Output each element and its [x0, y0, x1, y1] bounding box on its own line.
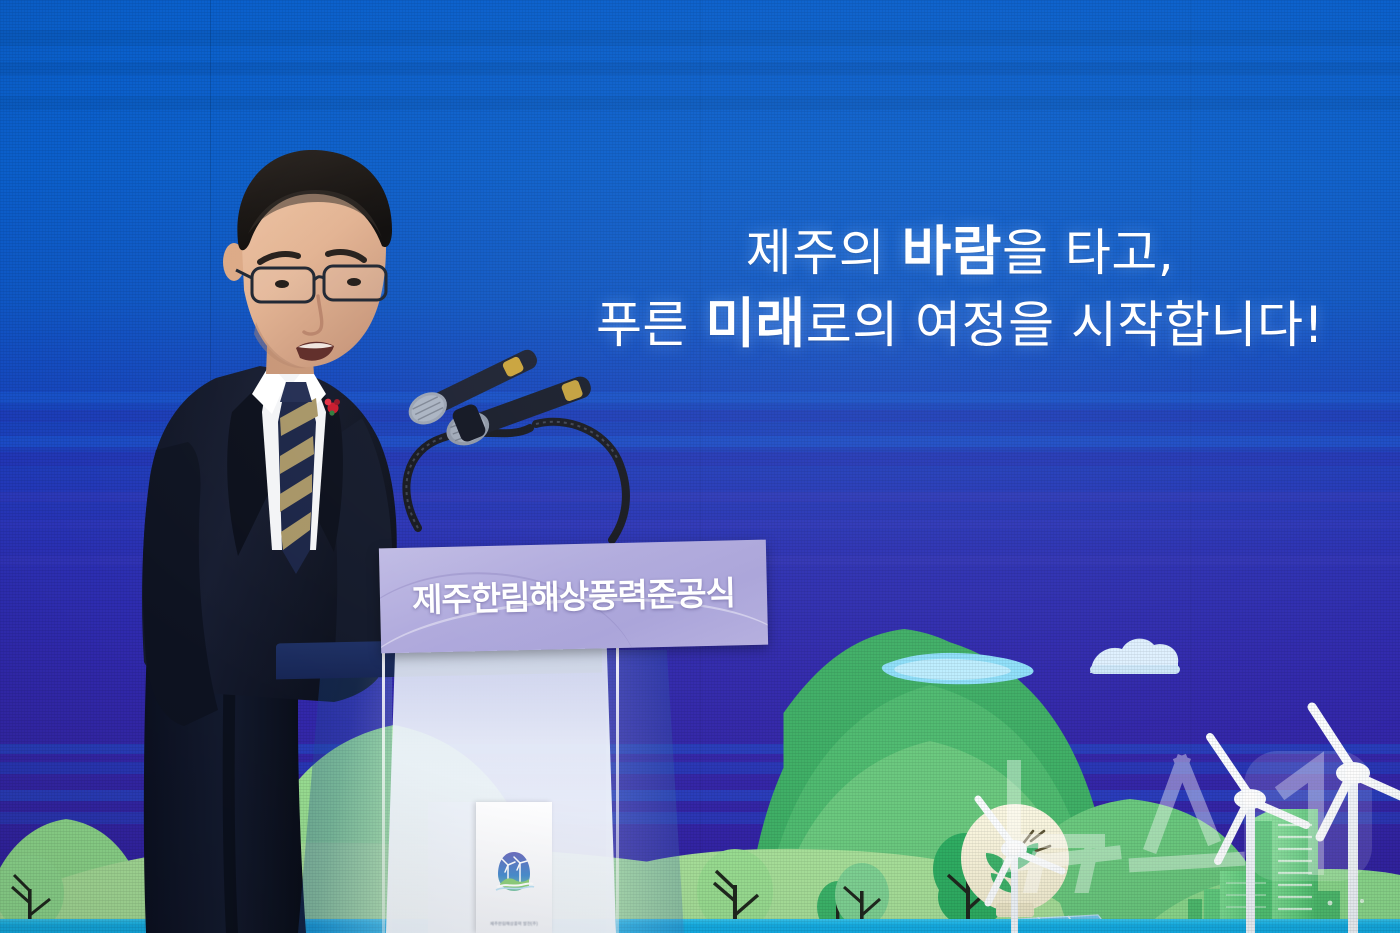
- eye: [347, 278, 361, 286]
- headline-l2-suffix: 로의 여정을 시작합니다!: [806, 296, 1324, 354]
- podium-sign-text: 제주한림해상풍력준공식: [379, 566, 767, 623]
- headline-l2-bold: 미래: [705, 292, 805, 355]
- podium-info-card: 제주한림해상풍력 발전(주): [476, 802, 552, 933]
- podium: 제주한림해상풍력 발전(주) 제주한림해상풍력준공식: [276, 522, 776, 933]
- photo-canvas: 제주의 바람을 타고, 푸른 미래로의 여정을 시작합니다!: [0, 0, 1400, 933]
- podium-edge-right: [616, 648, 619, 933]
- headline-l1-suffix: 을 타고,: [1002, 224, 1174, 282]
- wind-turbine-hill-logo-icon: [491, 850, 537, 896]
- headline-line-1: 제주의 바람을 타고,: [560, 216, 1360, 288]
- organization-logo: [491, 850, 537, 901]
- podium-edge-left: [382, 648, 385, 933]
- eye: [275, 280, 289, 288]
- podium-acrylic-left: [298, 650, 392, 933]
- cloud: [1090, 639, 1180, 674]
- podium-card-caption: 제주한림해상풍력 발전(주): [476, 921, 552, 927]
- headline-l1-prefix: 제주의: [746, 224, 902, 282]
- headline-l1-bold: 바람: [902, 220, 1002, 283]
- podium-sign: 제주한림해상풍력준공식: [379, 540, 768, 654]
